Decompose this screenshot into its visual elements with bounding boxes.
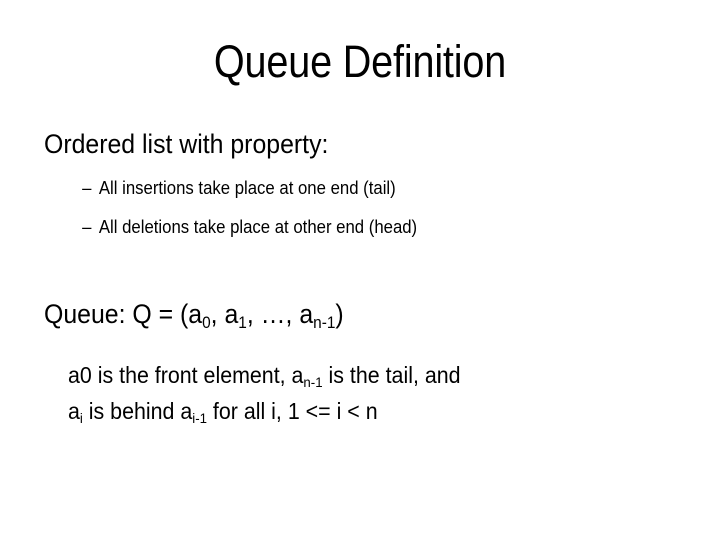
list-item-label: All insertions take place at one end (ta… xyxy=(99,177,396,199)
body-heading: Ordered list with property: xyxy=(44,128,651,161)
paragraph-line-2-part-1: a xyxy=(68,398,80,424)
paragraph-line-1-part-2: is the tail, and xyxy=(323,362,461,388)
paragraph-subscript-i-1: i-1 xyxy=(192,411,207,427)
formula-suffix: ) xyxy=(335,299,343,329)
paragraph-subscript-i: i xyxy=(80,411,83,427)
dash-bullet-icon: – xyxy=(82,216,99,238)
list-item-label: All deletions take place at other end (h… xyxy=(99,216,417,238)
dash-bullet-icon: – xyxy=(82,177,99,199)
paragraph-line-2-part-2: is behind a xyxy=(83,398,192,424)
slide-body: Ordered list with property: – All insert… xyxy=(44,128,704,429)
paragraph-line-1-part-1: a0 is the front element, a xyxy=(68,362,303,388)
list-item: – All deletions take place at other end … xyxy=(44,216,658,238)
list-item: – All insertions take place at one end (… xyxy=(44,177,658,199)
page-title: Queue Definition xyxy=(43,36,677,88)
formula-prefix: Queue: Q = (a xyxy=(44,299,202,329)
queue-formula: Queue: Q = (a0, a1, …, an-1) xyxy=(44,298,651,331)
formula-mid-1: , a xyxy=(211,299,239,329)
slide-canvas: Queue Definition Ordered list with prope… xyxy=(0,0,720,540)
paragraph-line-2-part-3: for all i, 1 <= i < n xyxy=(207,398,378,424)
paragraph-line-2: ai is behind ai-1 for all i, 1 <= i < n xyxy=(68,393,659,429)
formula-subscript-n-1: n-1 xyxy=(313,313,335,332)
paragraph-line-1: a0 is the front element, an-1 is the tai… xyxy=(68,357,659,393)
bullet-list: – All insertions take place at one end (… xyxy=(44,177,704,238)
formula-subscript-1: 1 xyxy=(238,313,247,332)
paragraph-subscript-n-1: n-1 xyxy=(303,375,322,391)
formula-subscript-0: 0 xyxy=(202,313,211,332)
formula-mid-2: , …, a xyxy=(247,299,313,329)
